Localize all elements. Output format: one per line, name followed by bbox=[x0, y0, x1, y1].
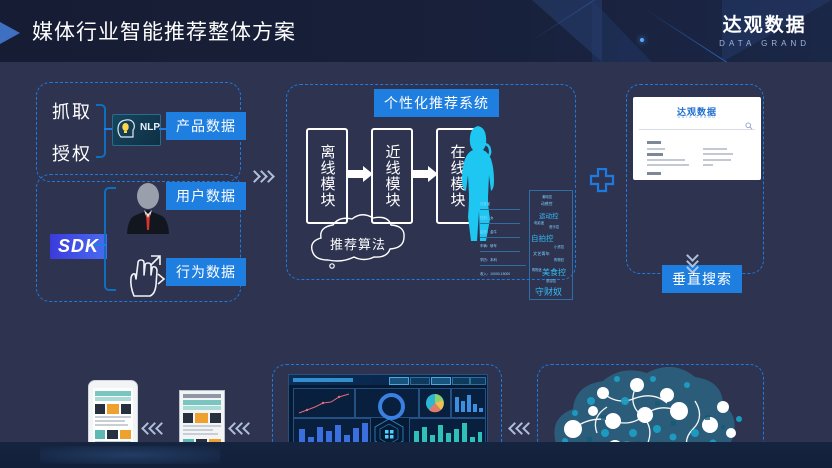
algorithm-label: 推荐算法 bbox=[330, 234, 386, 253]
page-title: 媒体行业智能推荐整体方案 bbox=[32, 16, 296, 46]
chevron-down-icon bbox=[688, 254, 697, 272]
label-crawl: 抓取 bbox=[52, 98, 92, 124]
sdk-badge: SDK bbox=[50, 234, 107, 259]
slide-body: 抓取 授权 NLP 产品数据 SDK 用户数据 bbox=[0, 62, 832, 442]
brand-logo-cn: 达观数据 bbox=[719, 10, 810, 37]
label-auth: 授权 bbox=[52, 140, 92, 166]
search-window-mock: 达观数据 DATA GRAND bbox=[633, 97, 761, 180]
persona-line-3: 车辆：轿车 bbox=[480, 242, 497, 251]
chevron-right-icon-1 bbox=[252, 172, 273, 181]
title-arrow-icon bbox=[0, 22, 20, 44]
arrow-nearline-online bbox=[413, 170, 429, 178]
line-bracket-nlp bbox=[104, 128, 112, 130]
arrow-offline-nearline bbox=[348, 170, 364, 178]
persona-tag-12: 守财奴 bbox=[535, 285, 562, 298]
tag-product-data: 产品数据 bbox=[166, 112, 246, 140]
persona-tag-1: 动感控 bbox=[541, 202, 552, 207]
persona-tag-7: 文艺青年 bbox=[533, 251, 550, 257]
tag-user-data: 用户数据 bbox=[166, 182, 246, 210]
bracket-sdk bbox=[104, 187, 116, 291]
module-nearline-label: 近线模块 bbox=[384, 144, 401, 208]
tag-behavior-data: 行为数据 bbox=[166, 258, 246, 286]
gesture-icon bbox=[124, 250, 168, 303]
persona-tag-11: 旅游控 bbox=[546, 278, 556, 283]
search-input-underline[interactable] bbox=[639, 129, 755, 130]
slide-footer bbox=[0, 442, 832, 468]
result-footer bbox=[647, 172, 661, 175]
persona-tag-8: 购物狂 bbox=[554, 257, 564, 262]
persona-tag-10: 美食控 bbox=[542, 267, 566, 278]
chevron-left-icon-2 bbox=[232, 424, 253, 433]
persona-tag-6: 小资控 bbox=[554, 244, 564, 249]
persona-line-0: 刘某某 bbox=[480, 200, 490, 209]
persona-line-5: 收入：10000-15000 bbox=[480, 270, 510, 279]
slide-root: 媒体行业智能推荐整体方案 达观数据 DATA GRAND 抓取 授权 NLP 产… bbox=[0, 0, 832, 468]
persona-tag-5: 自拍控 bbox=[531, 233, 554, 244]
persona-tag-4: 音乐控 bbox=[549, 224, 559, 229]
tag-vertical-search: 垂直搜索 bbox=[662, 265, 742, 293]
persona-tag-2: 运动控 bbox=[539, 210, 559, 220]
brand-logo-en: DATA GRAND bbox=[719, 39, 810, 48]
persona-tag-cloud: 潮电控 动感控 运动控 电影迷 音乐控 自拍控 小资控 文艺青年 购物狂 购物迷… bbox=[529, 190, 573, 300]
plus-icon bbox=[589, 168, 615, 199]
line-sdk-bracket bbox=[94, 244, 106, 246]
slide-header: 媒体行业智能推荐整体方案 达观数据 DATA GRAND bbox=[0, 0, 832, 62]
module-nearline: 近线模块 bbox=[371, 128, 413, 224]
persona-tag-0: 潮电控 bbox=[542, 194, 552, 199]
persona-tag-3: 电影迷 bbox=[534, 220, 544, 225]
persona-line-4: 学历：本科 bbox=[480, 256, 497, 265]
module-offline: 离线模块 bbox=[306, 128, 348, 224]
result-heading bbox=[647, 141, 661, 144]
chevron-left-icon-1 bbox=[145, 424, 166, 433]
chevron-left-icon-3 bbox=[512, 424, 533, 433]
search-icon[interactable] bbox=[745, 122, 753, 130]
persona-line-1: 性别：女 bbox=[480, 214, 494, 223]
persona-tag-9: 购物迷 bbox=[532, 267, 542, 272]
persona-line-2: 星座：金牛 bbox=[480, 228, 497, 237]
search-window-logo-en: DATA GRAND bbox=[633, 115, 761, 119]
nlp-label: NLP bbox=[140, 122, 160, 133]
brand-logo: 达观数据 DATA GRAND bbox=[719, 10, 810, 48]
bracket-input bbox=[96, 104, 106, 158]
module-offline-label: 离线模块 bbox=[319, 144, 336, 208]
title-recommend-system: 个性化推荐系统 bbox=[374, 89, 499, 117]
